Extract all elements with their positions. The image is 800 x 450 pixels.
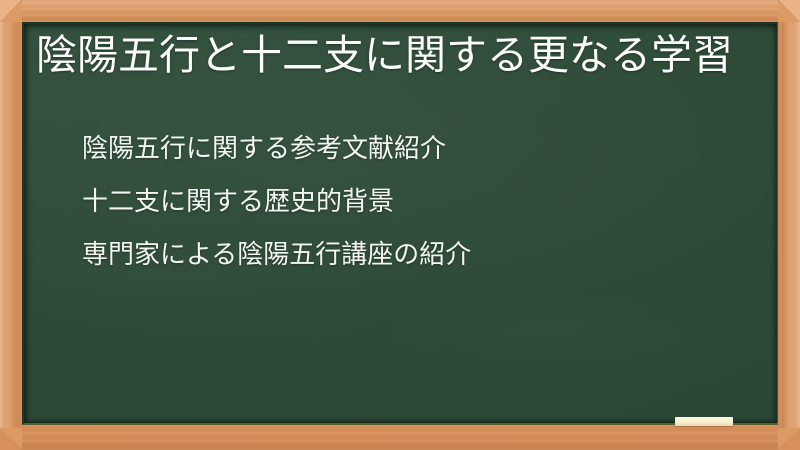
chalkboard-wooden-frame: 陰陽五行と十二支に関する更なる学習 陰陽五行に関する参考文献紹介 十二支に関する… [0,0,800,450]
slide-title: 陰陽五行と十二支に関する更なる学習 [36,32,760,80]
frame-corner-top-right [778,0,800,22]
frame-corner-bottom-right [778,428,800,450]
frame-rail-top [0,0,800,22]
frame-corner-bottom-left [0,428,22,450]
slide-bullet-list: 陰陽五行に関する参考文献紹介 十二支に関する歴史的背景 専門家による陰陽五行講座… [82,122,752,281]
frame-rail-right [778,0,800,450]
frame-corner-top-left [0,0,22,22]
frame-rail-left [0,0,22,450]
bullet-item-3: 専門家による陰陽五行講座の紹介 [82,228,752,281]
bullet-item-1: 陰陽五行に関する参考文献紹介 [82,122,752,175]
chalkboard-surface: 陰陽五行と十二支に関する更なる学習 陰陽五行に関する参考文献紹介 十二支に関する… [22,22,778,425]
chalk-stick-icon [675,417,733,426]
frame-rail-bottom [0,425,800,450]
bullet-item-2: 十二支に関する歴史的背景 [82,175,752,228]
